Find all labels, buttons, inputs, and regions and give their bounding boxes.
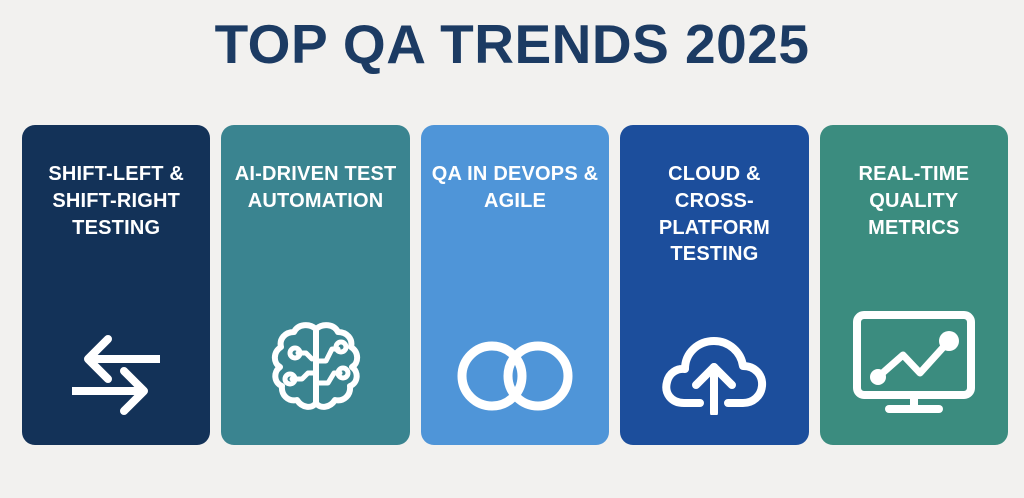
trend-card-list: SHIFT-LEFT & SHIFT-RIGHT TESTING AI-DRIV… — [22, 125, 1008, 445]
trend-card-title: CLOUD & CROSS-PLATFORM TESTING — [620, 161, 808, 268]
trend-card-shift-left-right[interactable]: SHIFT-LEFT & SHIFT-RIGHT TESTING — [22, 125, 210, 445]
page-title: TOP QA TRENDS 2025 — [0, 17, 1024, 72]
bidirectional-arrows-icon — [22, 333, 210, 415]
infographic-root: TOP QA TRENDS 2025 SHIFT-LEFT & SHIFT-RI… — [0, 0, 1024, 498]
ai-brain-circuit-icon — [221, 319, 409, 415]
trend-card-title: REAL-TIME QUALITY METRICS — [820, 161, 1008, 241]
trend-card-real-time-metrics[interactable]: REAL-TIME QUALITY METRICS — [820, 125, 1008, 445]
devops-infinity-loop-icon — [421, 337, 609, 415]
trend-card-title: SHIFT-LEFT & SHIFT-RIGHT TESTING — [22, 161, 210, 241]
trend-card-cloud-cross-platform[interactable]: CLOUD & CROSS-PLATFORM TESTING — [620, 125, 808, 445]
cloud-upload-icon — [620, 327, 808, 415]
trend-card-title: AI-DRIVEN TEST AUTOMATION — [221, 161, 409, 215]
trend-card-ai-test-automation[interactable]: AI-DRIVEN TEST AUTOMATION — [221, 125, 409, 445]
trend-card-qa-devops-agile[interactable]: QA IN DEVOPS & AGILE — [421, 125, 609, 445]
trend-card-title: QA IN DEVOPS & AGILE — [421, 161, 609, 215]
monitor-line-chart-icon — [820, 309, 1008, 415]
